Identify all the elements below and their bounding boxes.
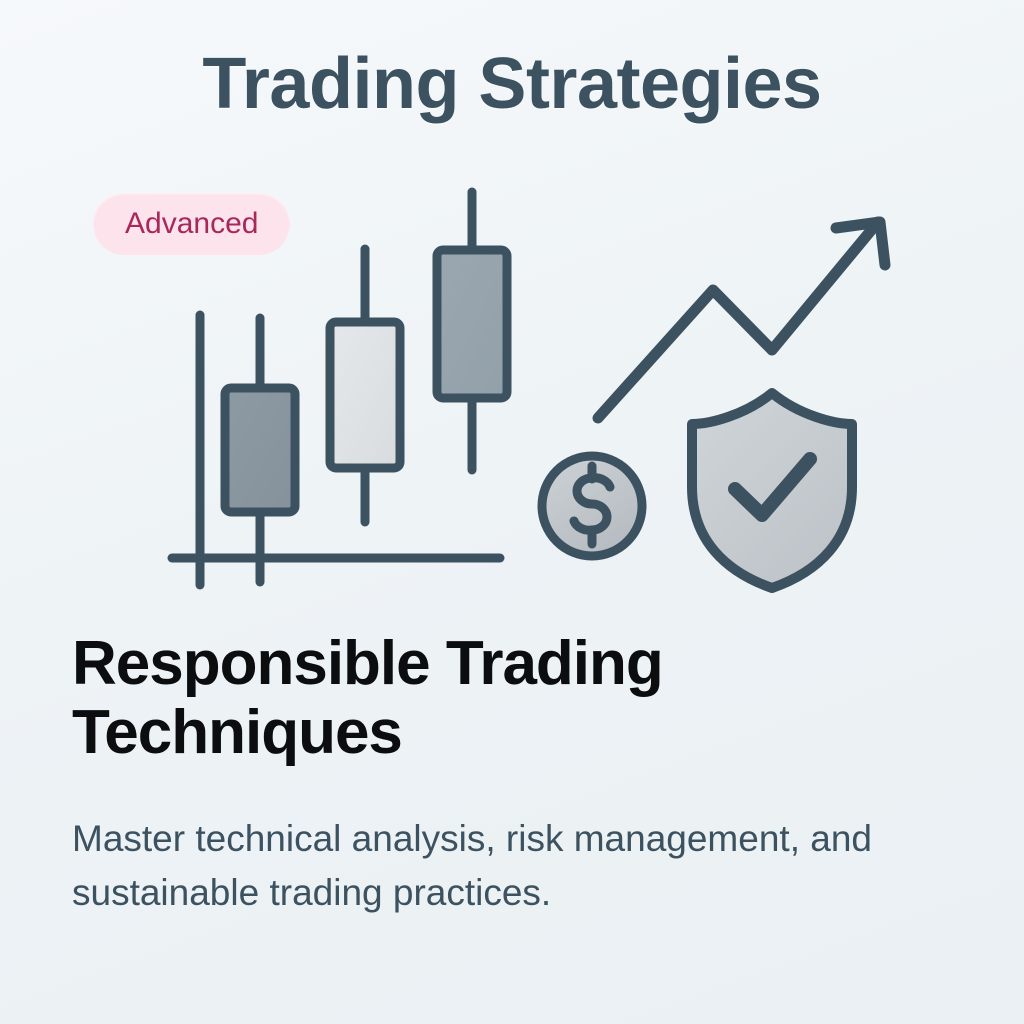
chart-axes: [172, 315, 500, 585]
card-description: Master technical analysis, risk manageme…: [72, 812, 972, 919]
coin-circle: [542, 456, 642, 556]
status-badge-label: Advanced: [125, 207, 258, 241]
dollar-sign-glyph: [574, 466, 610, 544]
shield-body: [692, 393, 852, 588]
trading-strategies-card: Trading Strategies Advanced: [0, 0, 1024, 1024]
candlestick-2-body: [330, 322, 400, 468]
candlestick-1-body: [225, 388, 295, 512]
shield-check-icon: [692, 393, 852, 588]
page-title: Trading Strategies: [0, 48, 1024, 120]
arrow-head-icon: [836, 222, 885, 265]
status-badge: Advanced: [93, 193, 290, 255]
check-icon: [735, 459, 810, 515]
trend-line: [598, 222, 878, 418]
dollar-coin-icon: [542, 456, 642, 556]
candlestick-3: [437, 192, 507, 470]
candlestick-1: [225, 318, 295, 582]
candlestick-3-body: [437, 250, 507, 398]
upward-trend-arrow: [598, 222, 885, 418]
candlestick-2: [330, 249, 400, 522]
card-heading: Responsible Trading Techniques: [72, 630, 792, 768]
